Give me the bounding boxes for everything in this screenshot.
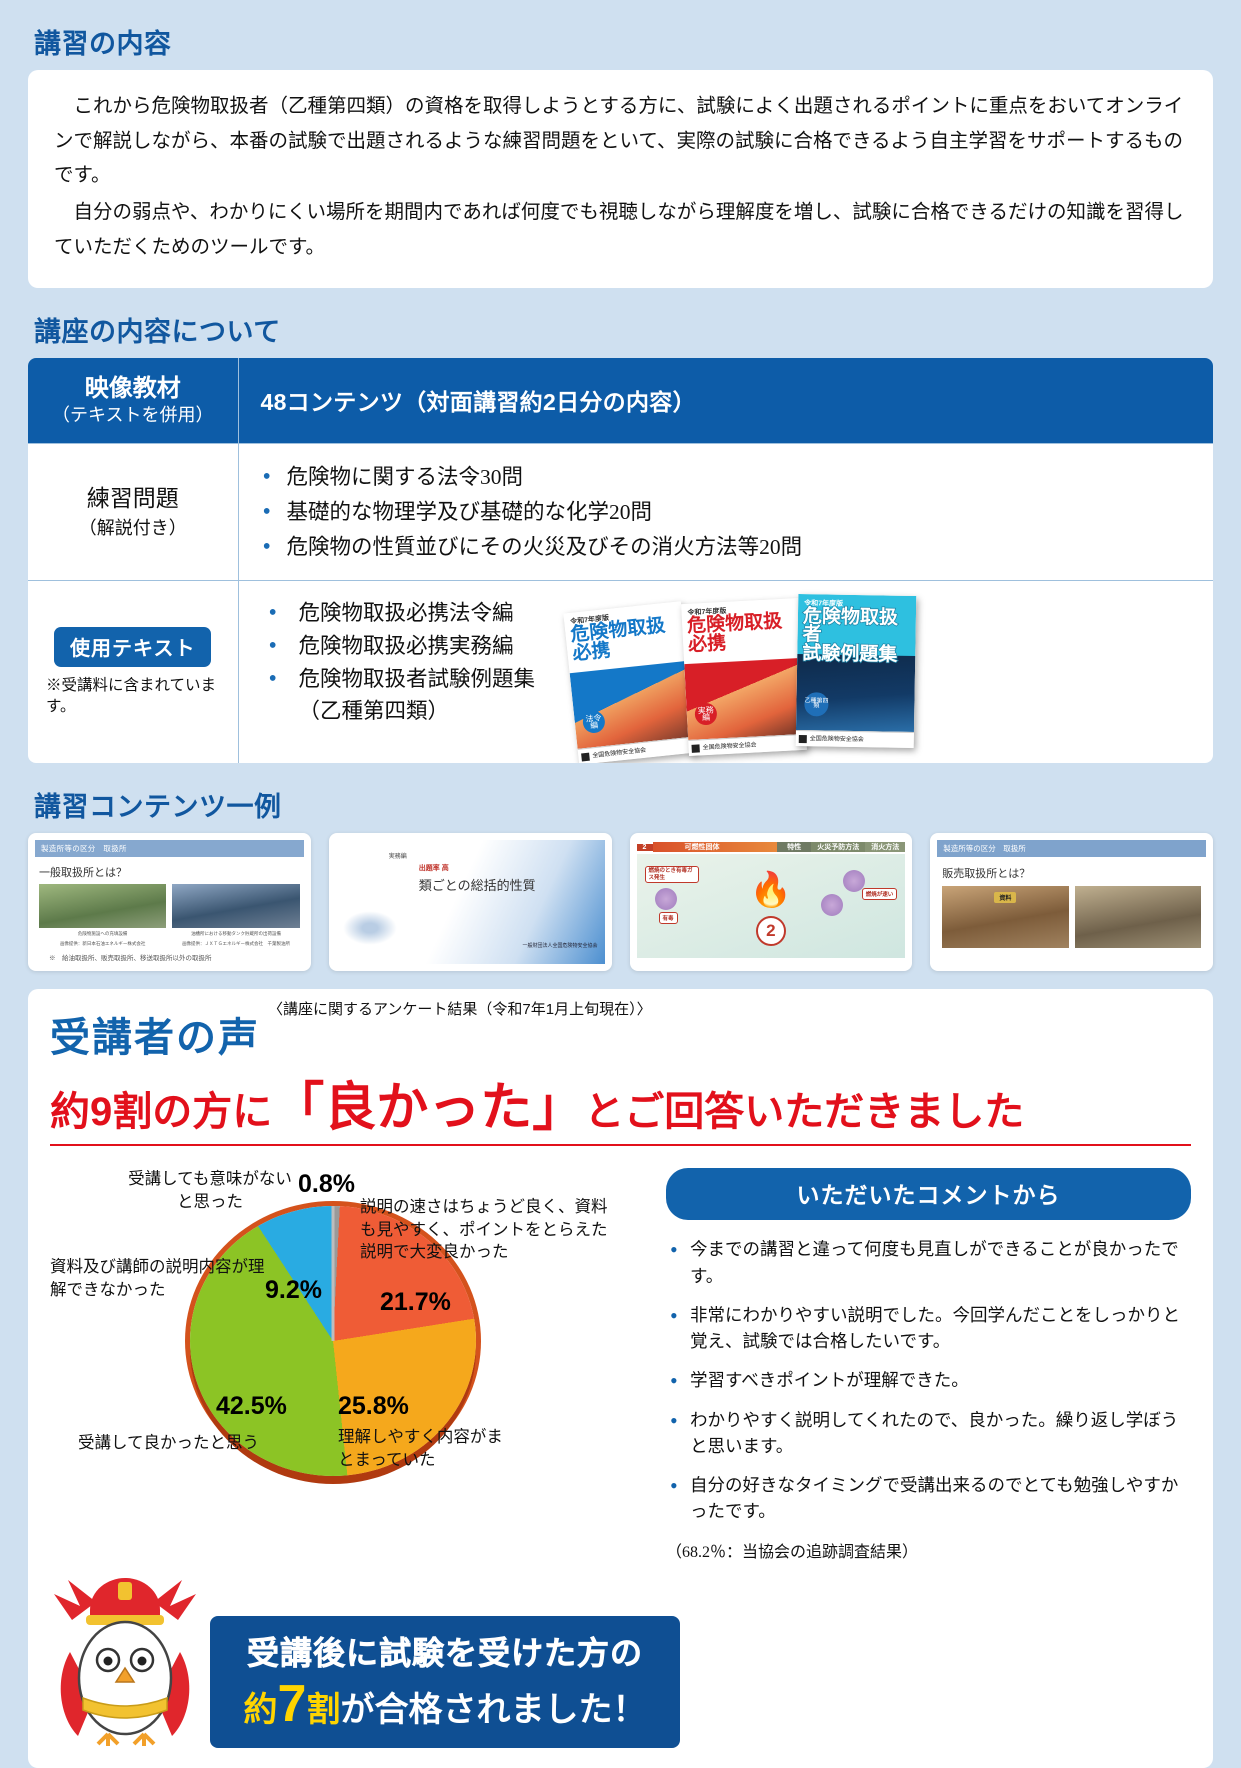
- slide4-title: 販売取扱所とは？: [942, 865, 1206, 881]
- list-item: 基礎的な物理学及び基礎的な化学20問: [261, 495, 1192, 530]
- slide1-title: 一般取扱所とは？: [39, 864, 304, 880]
- list-item: 学習すべきポイントが理解できた。: [666, 1367, 1191, 1393]
- textbook-cover-group: 令和7年度版 危険物取扱 必携 法令編 全国危険物安全協会 令和7年度版 危険物…: [561, 597, 1192, 747]
- pass-banner-unit: 割: [306, 1691, 340, 1729]
- photo-placeholder: [1075, 886, 1201, 948]
- photo-placeholder: [39, 884, 166, 928]
- thumbnail-slide-1[interactable]: 製造所等の区分 取扱所 一般取扱所とは？ 危険物施設への充填設備 画像提供：新日…: [28, 833, 311, 971]
- thumbnail-slide-2[interactable]: 実務編 出題率 高 類ごとの総括的性質 一般財団法人全国危険物安全協会: [329, 833, 612, 971]
- pass-rate-banner: 受講後に試験を受けた方の 約7割が合格されました！: [210, 1616, 680, 1748]
- practice-sublabel: （解説付き）: [34, 514, 232, 540]
- section-heading-contents: 講習コンテンツ一例: [28, 763, 1213, 833]
- book-cover-2: 令和7年度版 危険物取扱 必携 実務編 全国危険物安全協会: [681, 598, 807, 756]
- slide1-images: [39, 884, 300, 928]
- slide2-illustration: [343, 911, 397, 945]
- pass-banner-line2: 約7割が合格されました！: [236, 1674, 654, 1734]
- section-heading-intro: 講習の内容: [28, 0, 1213, 70]
- slide1-highlight: 危険物の取扱い等を行っている場所は、一般取扱所になります。: [41, 971, 298, 972]
- tracking-footnote: （68.2％：当協会の追跡調査結果）: [666, 1538, 1191, 1562]
- slide1-credit-1: 画像提供：新日本石油エネルギー株式会社: [45, 941, 160, 948]
- owl-mascot-icon: [50, 1568, 200, 1748]
- pie-slice-divider: [332, 1206, 335, 1341]
- table-cell-label-practice: 練習問題 （解説付き）: [28, 443, 238, 580]
- thumbnail-slide-3[interactable]: 2 可燃性固体 特性 火災予防方法 消火方法 🔥 燃焼のとき有毒ガス発生 燃焼が…: [630, 833, 913, 971]
- textbook-note: ※受講料に含まれています。: [34, 675, 232, 718]
- intro-card: これから危険物取扱者（乙種第四類）の資格を取得しようとする方に、試験によく出題さ…: [28, 70, 1213, 288]
- course-content-table: 映像教材 （テキストを併用） 48コンテンツ（対面講習約2日分の内容） 練習問題…: [28, 358, 1213, 764]
- list-item: 自分の好きなタイミングで受講出来るのでとても勉強しやすかったです。: [666, 1472, 1191, 1525]
- slide1-credit-2: 画像提供：ＪＸＴＧエネルギー株式会社 千葉製油所: [178, 941, 293, 948]
- textbook-item-list: 危険物取扱必携法令編 危険物取扱必携実務編 危険物取扱者試験例題集 （乙種第四類…: [261, 597, 561, 728]
- list-item: 今までの講習と違って何度も見直しができることが良かったです。: [666, 1236, 1191, 1289]
- book-publisher-3: 全国危険物安全協会: [795, 730, 913, 748]
- headline-quote: 「良かった」: [272, 1079, 584, 1137]
- slide2-footer: 一般財団法人全国危険物安全協会: [522, 942, 597, 949]
- slide1-caption-2: 油槽所における移動タンク貯蔵所の出荷設備: [178, 931, 293, 938]
- content-thumbnail-row: 製造所等の区分 取扱所 一般取扱所とは？ 危険物施設への充填設備 画像提供：新日…: [28, 833, 1213, 971]
- voices-title: 受講者の声: [50, 1005, 260, 1063]
- table-cell-value-video: 48コンテンツ（対面講習約2日分の内容）: [238, 358, 1213, 444]
- slide1-header: 製造所等の区分 取扱所: [35, 840, 304, 857]
- pie-value-no-meaning: 0.8%: [298, 1170, 355, 1199]
- slide3-bubble-left: 燃焼のとき有毒ガス発生: [645, 866, 699, 883]
- comments-panel: いただいたコメントから 今までの講習と違って何度も見直しができることが良かったで…: [666, 1164, 1191, 1561]
- headline-pre: 約9割の方に: [50, 1090, 272, 1134]
- book-cover-1: 令和7年度版 危険物取扱 必携 法令編 全国危険物安全協会: [563, 602, 696, 764]
- slide4-images: 資料: [942, 886, 1201, 948]
- pass-banner-number: 7: [278, 1675, 307, 1733]
- molecule-icon: [821, 894, 843, 916]
- pie-label-not-understood: 資料及び講師の説明内容が理解できなかった: [50, 1256, 265, 1301]
- list-item: 危険物の性質並びにその火災及びその消火方法等20問: [261, 530, 1192, 565]
- intro-paragraph-2: 自分の弱点や、わかりにくい場所を期間内であれば何度でも視聴しながら理解度を増し、…: [54, 196, 1187, 265]
- video-label: 映像教材: [34, 374, 232, 404]
- pie-value-easy: 25.8%: [338, 1392, 409, 1421]
- pass-banner-line1: 受講後に試験を受けた方の: [236, 1628, 654, 1674]
- headline-banner: 約9割の方に「良かった」とご回答いただきました: [50, 1065, 1191, 1146]
- slide2-title: 類ごとの総括的性質: [419, 875, 536, 894]
- table-row: 練習問題 （解説付き） 危険物に関する法令30問 基礎的な物理学及び基礎的な化学…: [28, 443, 1213, 580]
- slide3-tag-3: 消火方法: [865, 842, 905, 852]
- book-title-3: 危険物取扱者: [797, 608, 916, 646]
- slide3-number: 2: [637, 844, 653, 851]
- pie-value-glad: 42.5%: [216, 1392, 287, 1421]
- pass-banner-suffix: が合格されました！: [340, 1691, 646, 1729]
- comments-heading: いただいたコメントから: [666, 1168, 1191, 1220]
- intro-paragraph-1: これから危険物取扱者（乙種第四類）の資格を取得しようとする方に、試験によく出題さ…: [54, 90, 1187, 194]
- slide1-note: ※ 給油取扱所、販売取扱所、移送取扱所以外の取扱所: [49, 954, 298, 964]
- pie-label-very-good: 説明の速さはちょうど良く、資料も見やすく、ポイントをとらえた説明で大変良かった: [360, 1196, 610, 1263]
- table-row: 使用テキスト ※受講料に含まれています。 危険物取扱必携法令編 危険物取扱必携実…: [28, 581, 1213, 764]
- status-badge: 使用テキスト: [54, 627, 211, 667]
- slide4-tag: 資料: [994, 892, 1016, 903]
- slide4-header: 製造所等の区分 取扱所: [937, 840, 1206, 857]
- table-cell-label-textbook: 使用テキスト ※受講料に含まれています。: [28, 581, 238, 764]
- list-item: 危険物取扱必携法令編: [261, 597, 561, 630]
- slide3-tag-1: 特性: [777, 842, 811, 852]
- pass-rate-row: 受講後に試験を受けた方の 約7割が合格されました！: [50, 1568, 1191, 1748]
- photo-placeholder: 資料: [942, 886, 1068, 948]
- practice-label: 練習問題: [34, 484, 232, 514]
- slide3-diagram: 🔥 燃焼のとき有毒ガス発生 燃焼が速い 有毒 2: [637, 854, 906, 958]
- section-heading-course: 講座の内容について: [28, 288, 1213, 358]
- headline-post: とご回答いただきました: [584, 1090, 1024, 1134]
- pie-chart: 受講しても意味がないと思った 0.8% 説明の速さはちょうど良く、資料も見やすく…: [50, 1164, 650, 1494]
- video-value: 48コンテンツ（対面講習約2日分の内容）: [261, 383, 1192, 417]
- list-item: 非常にわかりやすい説明でした。今回学んだことをしっかりと覚え、試験では合格したい…: [666, 1302, 1191, 1355]
- flame-icon: 🔥: [750, 870, 792, 910]
- list-item-continuation: （乙種第四類）: [261, 695, 561, 728]
- list-item: 危険物取扱必携実務編: [261, 630, 561, 663]
- slide2-badge: 出題率 高: [419, 863, 449, 873]
- practice-item-list: 危険物に関する法令30問 基礎的な物理学及び基礎的な化学20問 危険物の性質並び…: [261, 460, 1192, 564]
- pass-banner-approx: 約: [244, 1691, 278, 1729]
- pie-label-easy: 理解しやすく内容がまとまっていた: [338, 1426, 518, 1471]
- slide2-label: 実務編: [389, 851, 407, 860]
- survey-note: 〈講座に関するアンケート結果（令和7年1月上旬現在）〉: [268, 998, 652, 1019]
- table-cell-value-textbook: 危険物取扱必携法令編 危険物取扱必携実務編 危険物取扱者試験例題集 （乙種第四類…: [238, 581, 1213, 764]
- table-row: 映像教材 （テキストを併用） 48コンテンツ（対面講習約2日分の内容）: [28, 358, 1213, 444]
- table-cell-label-video: 映像教材 （テキストを併用）: [28, 358, 238, 444]
- book-cover-3: 令和7年度版 危険物取扱者 試験例題集 乙種第四類 全国危険物安全協会: [795, 594, 916, 748]
- list-item: 危険物に関する法令30問: [261, 460, 1192, 495]
- video-sublabel: （テキストを併用）: [34, 404, 232, 427]
- comments-list: 今までの講習と違って何度も見直しができることが良かったです。 非常にわかりやすい…: [666, 1236, 1191, 1524]
- molecule-icon: [655, 888, 677, 910]
- slide3-center-number: 2: [756, 916, 786, 946]
- brochure-page: 講習の内容 これから危険物取扱者（乙種第四類）の資格を取得しようとする方に、試験…: [0, 0, 1241, 1768]
- book-subtitle-3: 試験例題集: [797, 644, 915, 665]
- table-cell-value-practice: 危険物に関する法令30問 基礎的な物理学及び基礎的な化学20問 危険物の性質並び…: [238, 443, 1213, 580]
- photo-placeholder: [172, 884, 299, 928]
- slide3-category: 可燃性固体: [653, 842, 778, 852]
- pie-label-glad: 受講して良かったと思う: [78, 1432, 308, 1454]
- mascot-illustration: [50, 1568, 200, 1748]
- list-item: わかりやすく説明してくれたので、良かった。繰り返し学ぼうと思います。: [666, 1407, 1191, 1460]
- slide3-tag-2: 火災予防方法: [811, 842, 865, 852]
- slide3-bubble-bottom: 有毒: [659, 912, 678, 924]
- chart-and-comments: 受講しても意味がないと思った 0.8% 説明の速さはちょうど良く、資料も見やすく…: [50, 1164, 1191, 1561]
- slide1-caption-1: 危険物施設への充填設備: [45, 931, 160, 938]
- slide3-header: 2 可燃性固体 特性 火災予防方法 消火方法: [637, 840, 906, 854]
- pie-label-no-meaning: 受講しても意味がないと思った: [120, 1168, 300, 1213]
- voices-section: 受講者の声 〈講座に関するアンケート結果（令和7年1月上旬現在）〉 約9割の方に…: [28, 989, 1213, 1767]
- pie-value-not-understood: 9.2%: [265, 1276, 322, 1305]
- pie-value-very-good: 21.7%: [380, 1288, 451, 1317]
- list-item: 危険物取扱者試験例題集: [261, 663, 561, 696]
- thumbnail-slide-4[interactable]: 製造所等の区分 取扱所 販売取扱所とは？ 資料: [930, 833, 1213, 971]
- slide3-bubble-right: 燃焼が速い: [862, 888, 898, 900]
